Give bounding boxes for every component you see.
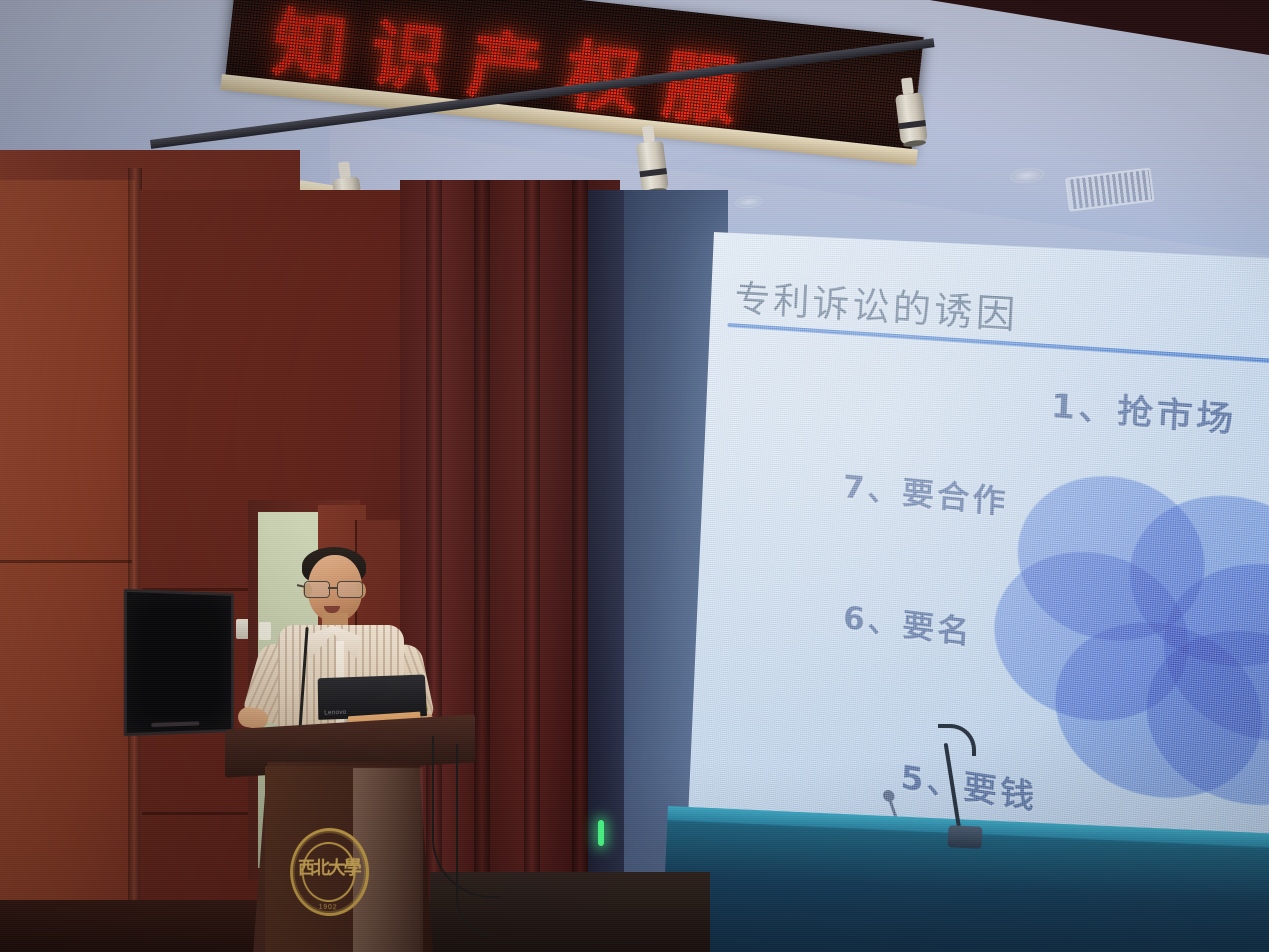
university-emblem-icon: 西北大學 1902 [290,826,369,918]
conference-hall-photo: 知识产权服 专利诉讼的诱因 [0,0,1269,952]
wood-panel-seam [0,560,132,563]
floor-cable [456,744,494,936]
laptop-brand-label: Lenovo [324,710,346,717]
slide-label-item-6: 6、要名 [842,592,974,654]
eyeglasses-icon [304,581,366,596]
slide-label-item-1: 1、抢市场 [1050,379,1238,442]
blue-wall-shadow-edge [588,190,624,890]
wood-wall-panel-left [0,180,135,952]
wall-mounted-monitor[interactable] [124,589,234,736]
slide-label-item-7: 7、要合作 [842,461,1010,523]
emblem-center-glyph: 西北大學 [290,853,369,880]
status-led-indicator [598,820,604,846]
microphone-base [948,825,983,849]
